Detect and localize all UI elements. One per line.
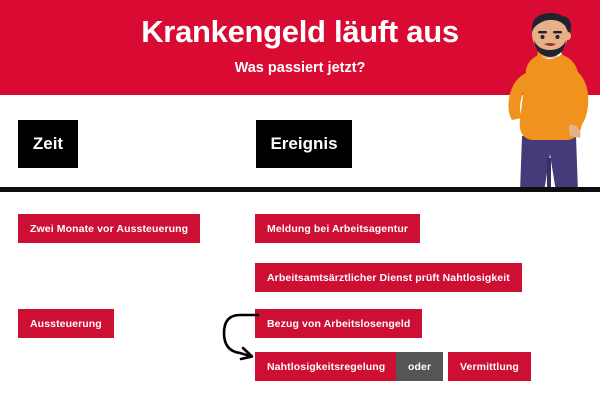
chip-event-aerztlicher-dienst-prueft-nahtlosigkeit[interactable]: Arbeitsamtsärztlicher Dienst prüft Nahtl… (255, 263, 522, 292)
chip-time-aussteuerung[interactable]: Aussteuerung (18, 309, 114, 338)
chip-connector-oder: oder (396, 352, 443, 381)
chip-outcome-nahtlosigkeitsregelung[interactable]: Nahtlosigkeitsregelung (255, 352, 397, 381)
column-header-zeit: Zeit (18, 120, 78, 168)
confused-man-illustration (498, 8, 600, 192)
infographic-root: Krankengeld läuft aus Was passiert jetzt… (0, 0, 600, 400)
column-header-ereignis: Ereignis (256, 120, 352, 168)
chip-time-zwei-monate-vor-aussteuerung[interactable]: Zwei Monate vor Aussteuerung (18, 214, 200, 243)
chip-outcome-vermittlung[interactable]: Vermittlung (448, 352, 531, 381)
chip-event-meldung-bei-arbeitsagentur[interactable]: Meldung bei Arbeitsagentur (255, 214, 420, 243)
section-divider (0, 187, 600, 192)
chip-event-bezug-von-arbeitslosengeld[interactable]: Bezug von Arbeitslosengeld (255, 309, 422, 338)
